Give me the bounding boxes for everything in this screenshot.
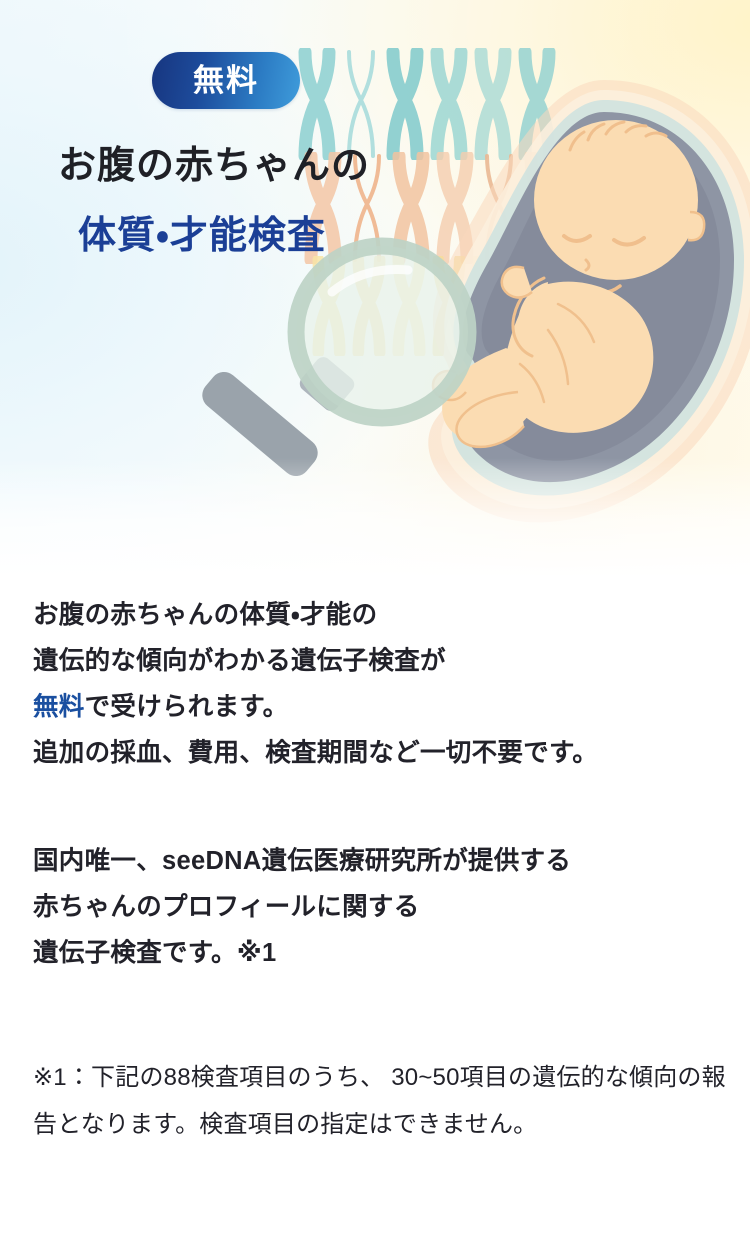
hero-title-line-2: 体質・才能検査 — [78, 217, 326, 255]
free-badge-label: 無料 — [193, 65, 259, 96]
paragraph-2-line-3: 遺伝子検査です。※1 — [33, 930, 730, 976]
paragraph-2-line-1: 国内唯一、seeDNA遺伝医療研究所が提供する — [33, 838, 730, 884]
paragraph-2-line-2: 赤ちゃんのプロフィールに関する — [33, 884, 730, 930]
description-paragraph-2: 国内唯一、seeDNA遺伝医療研究所が提供する 赤ちゃんのプロフィールに関する … — [0, 838, 750, 976]
chromosome-x-icon — [340, 48, 382, 160]
chromosome-x-icon — [296, 48, 338, 160]
paragraph-1-line-2: 遺伝的な傾向がわかる遺伝子検査が — [33, 638, 730, 684]
main-content: お腹の赤ちゃんの体質・才能の 遺伝的な傾向がわかる遺伝子検査が 無料で受けられま… — [0, 592, 750, 1172]
free-highlight-text: 無料 — [33, 693, 85, 721]
paragraph-1-line-4: 追加の採血、費用、検査期間など一切不要です。 — [33, 730, 730, 776]
free-badge: 無料 — [152, 52, 300, 109]
paragraph-1-line-3-rest: で受けられます。 — [85, 693, 289, 721]
paragraph-1-line-3: 無料で受けられます。 — [33, 684, 730, 730]
hero-title-line-1: お腹の赤ちゃんの — [58, 147, 370, 185]
footnote-text: ※1：下記の88検査項目のうち、 30~50項目の遺伝的な傾向の報告となります。… — [0, 1054, 750, 1148]
hero-banner: 無料 お腹の赤ちゃんの 体質・才能検査 — [0, 0, 750, 578]
hero-bottom-fade — [0, 458, 750, 578]
paragraph-1-line-1: お腹の赤ちゃんの体質・才能の — [33, 592, 730, 638]
description-paragraph-1: お腹の赤ちゃんの体質・才能の 遺伝的な傾向がわかる遺伝子検査が 無料で受けられま… — [0, 592, 750, 776]
